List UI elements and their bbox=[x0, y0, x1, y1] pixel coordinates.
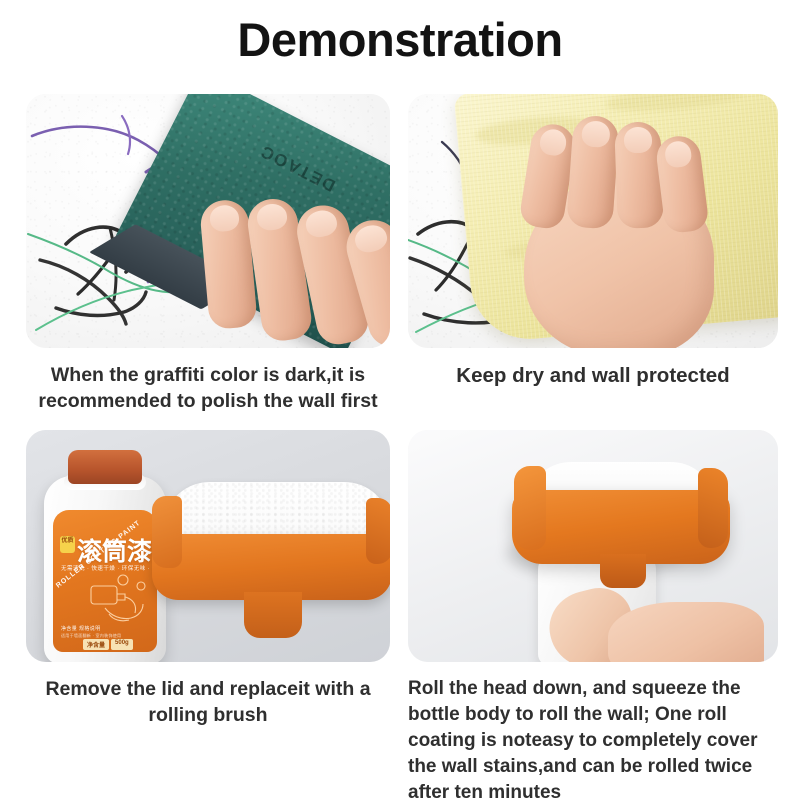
step-4-photo bbox=[408, 430, 778, 662]
step-1-caption: When the graffiti color is dark,it is re… bbox=[26, 362, 390, 414]
fingernail bbox=[352, 222, 390, 256]
roller-stem bbox=[244, 592, 302, 638]
fingernail bbox=[209, 204, 240, 232]
step-3-photo: 优质 滚筒漆 无需清洗 · 快速干燥 · 环保无味 · 遮盖力强 bbox=[26, 430, 390, 662]
weight-value: 500g bbox=[111, 639, 133, 650]
page-title: Demonstration bbox=[0, 12, 800, 67]
roller-brush-on-wall bbox=[512, 462, 730, 584]
weight-label: 净含量 bbox=[83, 639, 109, 650]
label-weight-tag: 净含量 500g bbox=[83, 639, 133, 650]
fingernail bbox=[581, 120, 610, 148]
finger-ring bbox=[614, 121, 664, 229]
cloth-fold bbox=[604, 94, 745, 116]
roller-brush-head bbox=[152, 482, 390, 652]
finger-middle bbox=[566, 115, 620, 230]
step-card-2: Keep dry and wall protected bbox=[408, 94, 778, 389]
step-card-4: Roll the head down, and squeeze the bott… bbox=[408, 430, 778, 800]
roller-arm-left bbox=[514, 466, 546, 550]
product-label: 优质 滚筒漆 无需清洗 · 快速干燥 · 环保无味 · 遮盖力强 bbox=[53, 510, 157, 652]
demonstration-infographic: Demonstration bbox=[0, 0, 800, 800]
fingernail bbox=[624, 127, 652, 154]
label-roller-illustration bbox=[61, 574, 153, 630]
step-2-caption: Keep dry and wall protected bbox=[408, 362, 778, 389]
step-card-1: DETAOC SH S bbox=[26, 94, 390, 414]
paint-bottle: 优质 滚筒漆 无需清洗 · 快速干燥 · 环保无味 · 遮盖力强 bbox=[44, 448, 166, 662]
fingernail bbox=[303, 208, 339, 240]
step-3-caption: Remove the lid and replaceit with a roll… bbox=[26, 676, 390, 728]
roller-arm-left bbox=[152, 496, 182, 568]
label-footer-text: 净含量 规格说明 bbox=[61, 625, 101, 632]
hand-wiping-wall bbox=[504, 118, 734, 348]
hand-squeezing-bottle bbox=[550, 580, 764, 662]
palm bbox=[608, 602, 764, 662]
fingernail bbox=[255, 202, 288, 232]
roller-arm-right bbox=[366, 498, 390, 564]
fingernail bbox=[664, 140, 693, 169]
fingernail bbox=[538, 128, 568, 158]
label-quality-badge: 优质 bbox=[60, 536, 75, 553]
roller-frame bbox=[152, 534, 390, 600]
step-4-caption: Roll the head down, and squeeze the bott… bbox=[408, 676, 778, 800]
roller-arm-right bbox=[698, 468, 728, 548]
steps-grid: DETAOC SH S bbox=[26, 94, 778, 794]
step-1-photo: DETAOC SH S bbox=[26, 94, 390, 348]
step-card-3: 优质 滚筒漆 无需清洗 · 快速干燥 · 环保无味 · 遮盖力强 bbox=[26, 430, 390, 728]
step-2-photo bbox=[408, 94, 778, 348]
bottle-cap bbox=[68, 450, 142, 484]
